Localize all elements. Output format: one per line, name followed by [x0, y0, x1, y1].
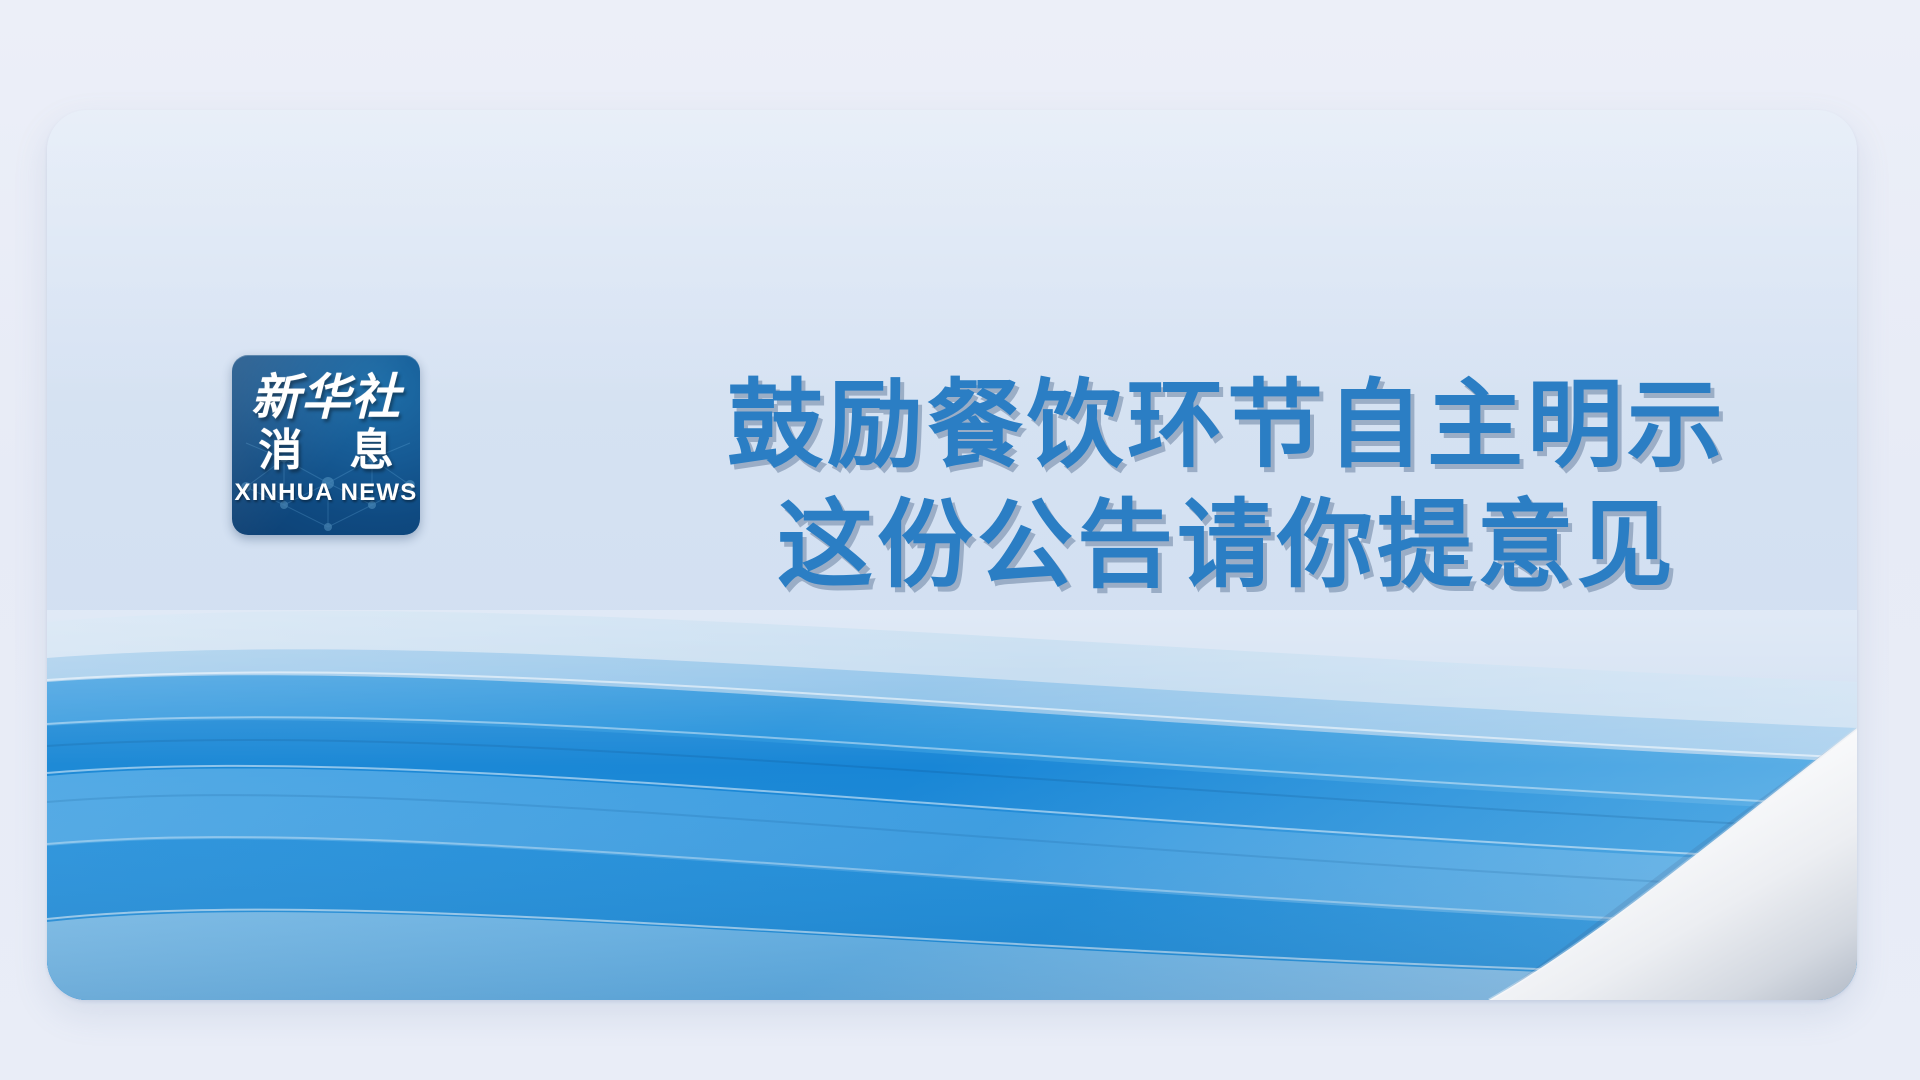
- xinhua-news-logo: 新华社 消 息 XINHUA NEWS: [232, 355, 420, 535]
- headline-line-2: 这份公告请你提意见: [607, 485, 1847, 605]
- logo-line-english: XINHUA NEWS: [232, 479, 420, 507]
- news-card: 新华社 消 息 XINHUA NEWS 鼓励餐饮环节自主明示 这份公告请你提意见: [47, 110, 1857, 1000]
- headline-line-1: 鼓励餐饮环节自主明示: [607, 365, 1847, 485]
- logo-line-xinhua-she: 新华社: [232, 369, 420, 425]
- headline-block: 鼓励餐饮环节自主明示 这份公告请你提意见: [607, 365, 1847, 605]
- page-root: 新华社 消 息 XINHUA NEWS 鼓励餐饮环节自主明示 这份公告请你提意见: [0, 0, 1920, 1080]
- logo-line-xiaoxi: 消 息: [232, 425, 420, 477]
